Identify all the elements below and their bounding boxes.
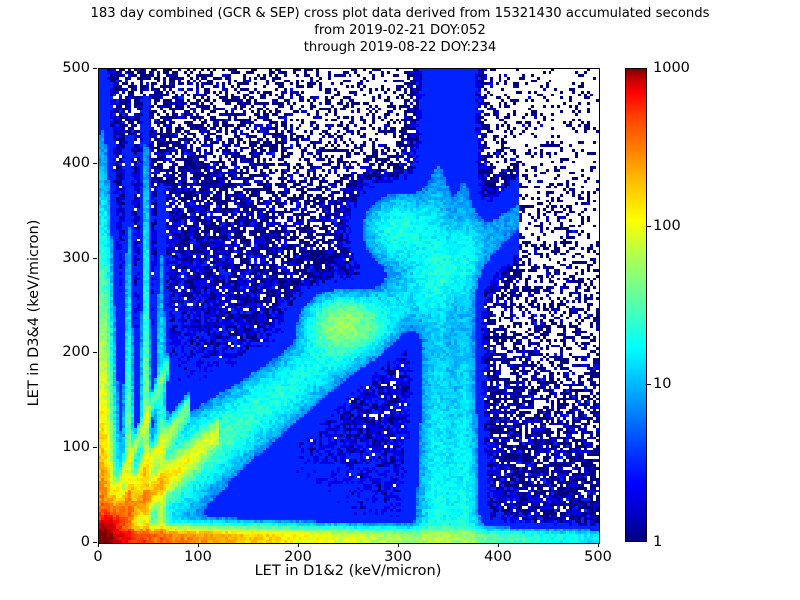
colorbar-tick	[647, 226, 651, 227]
y-axis-tick	[93, 447, 97, 448]
x-axis-label: LET in D1&2 (keV/micron)	[98, 563, 598, 579]
x-axis-tick	[398, 543, 399, 547]
y-axis-tick	[93, 542, 97, 543]
colorbar-tick-label: 10	[653, 376, 671, 392]
colorbar-tick-label: 1	[653, 534, 662, 550]
x-axis-tick	[198, 543, 199, 547]
figure-canvas: 183 day combined (GCR & SEP) cross plot …	[0, 0, 800, 600]
colorbar-tick-label: 1000	[653, 60, 690, 76]
y-axis-tick-label: 200	[40, 344, 90, 360]
x-axis-tick	[298, 543, 299, 547]
y-axis-label: LET in D3&4 (keV/micron)	[26, 76, 42, 550]
x-axis-tick	[98, 543, 99, 547]
y-axis-tick-label: 300	[40, 250, 90, 266]
x-axis-tick	[598, 543, 599, 547]
y-axis-tick-label: 400	[40, 155, 90, 171]
y-axis-tick-label: 0	[40, 534, 90, 550]
colorbar: 1101001000	[625, 68, 647, 542]
y-axis-tick-label: 100	[40, 439, 90, 455]
y-axis-tick	[93, 352, 97, 353]
chart-title-line-2: from 2019-02-21 DOY:052	[0, 22, 800, 39]
chart-title: 183 day combined (GCR & SEP) cross plot …	[0, 5, 800, 56]
y-axis-tick	[93, 163, 97, 164]
plot-area	[98, 68, 600, 544]
y-axis-tick-label: 500	[40, 60, 90, 76]
y-axis-tick	[93, 258, 97, 259]
y-axis-tick	[93, 68, 97, 69]
colorbar-tick	[647, 384, 651, 385]
chart-title-line-3: through 2019-08-22 DOY:234	[0, 39, 800, 56]
x-axis-tick	[498, 543, 499, 547]
density-scatter-plot	[99, 69, 599, 543]
colorbar-tick-label: 100	[653, 218, 681, 234]
chart-title-line-1: 183 day combined (GCR & SEP) cross plot …	[0, 5, 800, 22]
colorbar-gradient	[625, 68, 647, 542]
